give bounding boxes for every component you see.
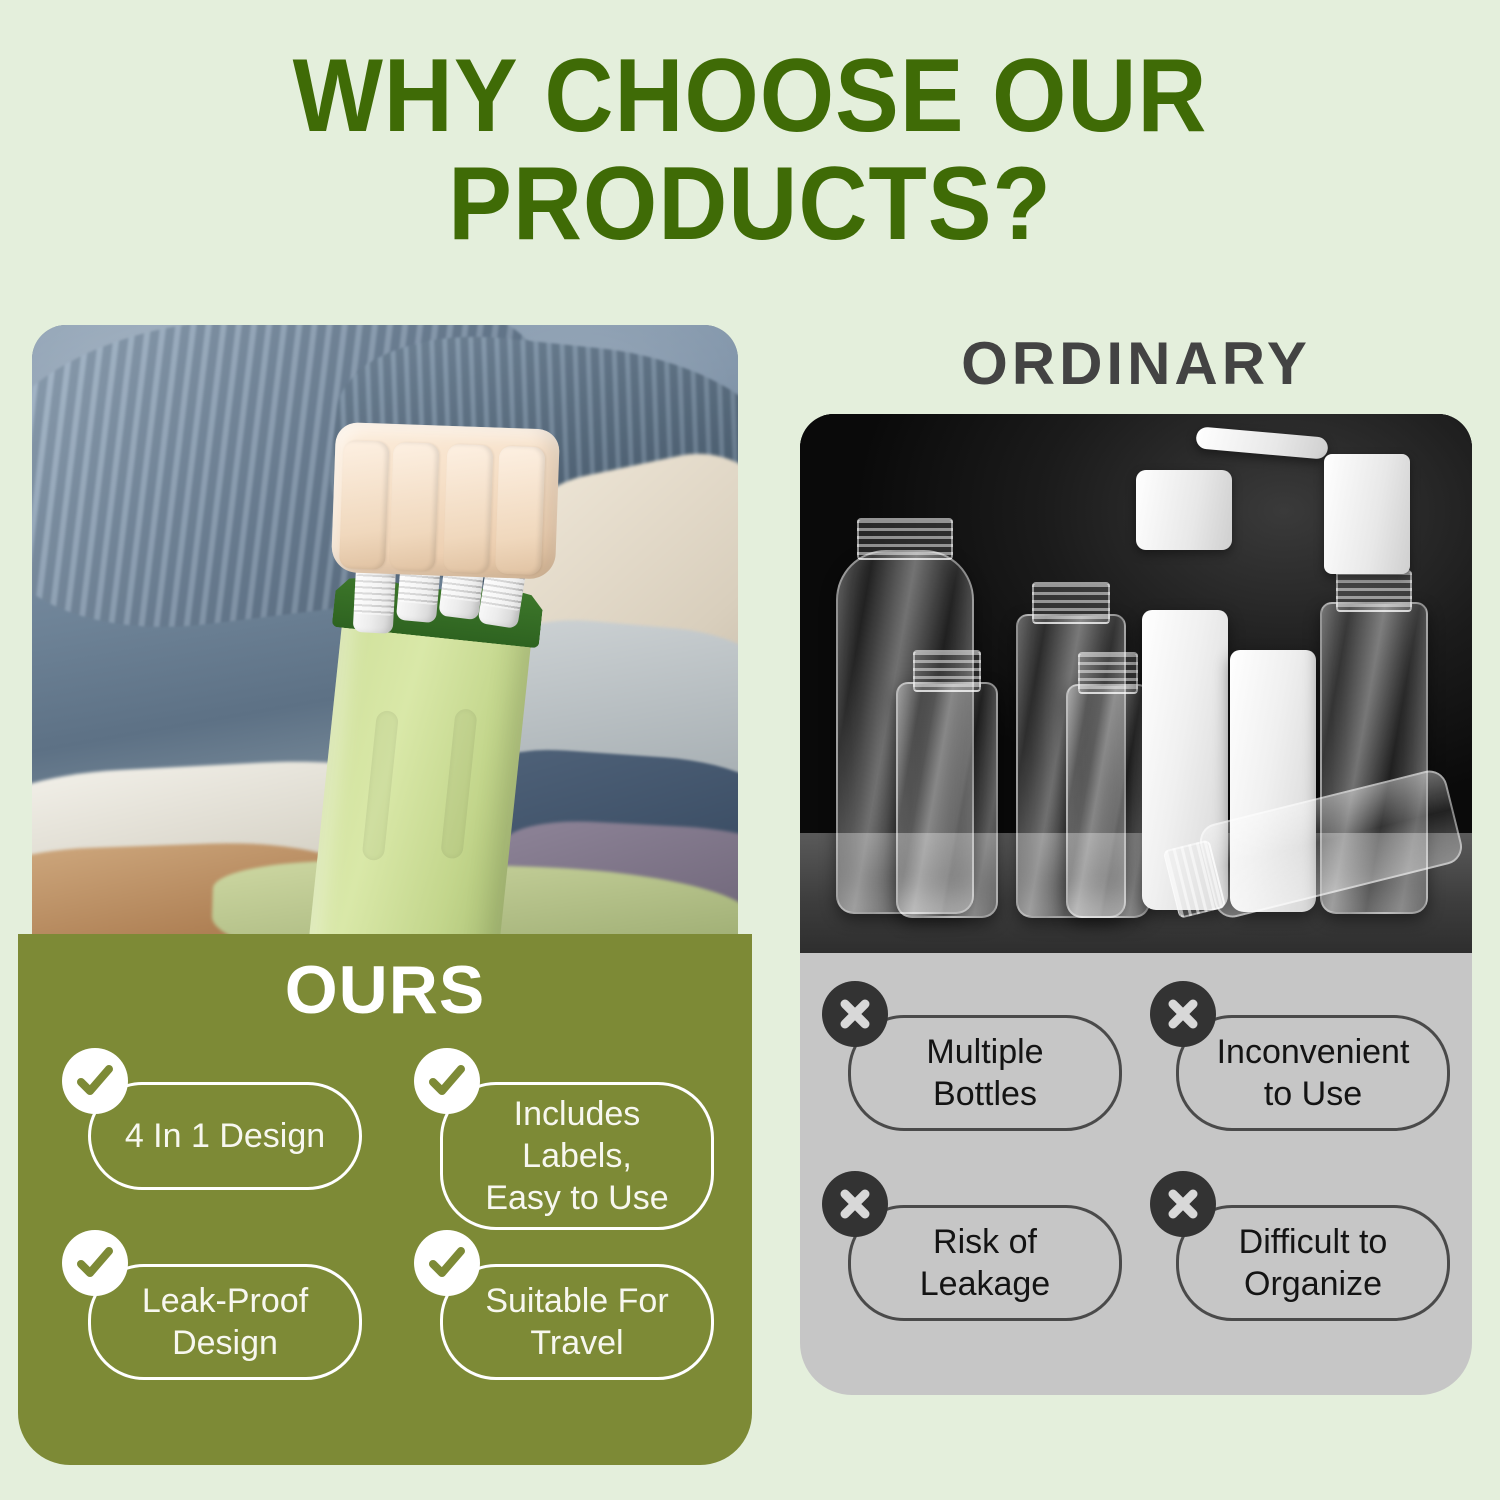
- check-icon: [62, 1230, 128, 1296]
- cap-flip-tab: [389, 442, 439, 572]
- bottle-thread: [1078, 652, 1138, 694]
- bottle-thread: [857, 518, 953, 560]
- ordinary-feature-pill: Risk of Leakage: [848, 1205, 1122, 1321]
- ordinary-product-photo: [800, 414, 1472, 953]
- dispenser-cap: [331, 422, 560, 580]
- bottle-thread: [1336, 570, 1412, 612]
- ours-feature-pill: Suitable For Travel: [440, 1264, 714, 1380]
- cross-icon: [822, 981, 888, 1047]
- ordinary-feature-pill: Multiple Bottles: [848, 1015, 1122, 1131]
- cross-icon: [1150, 1171, 1216, 1237]
- cap-flip-tab: [495, 446, 545, 576]
- ordinary-heading: ORDINARY: [800, 332, 1472, 396]
- ours-product-photo: [32, 325, 738, 937]
- ordinary-feature-pill: Inconvenient to Use: [1176, 1015, 1450, 1131]
- infographic-page: WHY CHOOSE OUR PRODUCTS? ORDINARY: [0, 0, 1500, 1500]
- dispenser-groove: [362, 710, 400, 861]
- clear-bottle-droplets: [1066, 684, 1150, 918]
- cap-flip-tab: [443, 444, 493, 574]
- ordinary-feature-pill: Difficult to Organize: [1176, 1205, 1450, 1321]
- check-icon: [62, 1048, 128, 1114]
- check-icon: [414, 1230, 480, 1296]
- cap-flip-tab: [339, 440, 389, 570]
- clear-bottle-small: [896, 682, 998, 918]
- ordinary-panel: Multiple Bottles Inconvenient to Use Ris…: [800, 953, 1472, 1395]
- bottle-thread: [913, 650, 981, 692]
- spray-nozzle-head: [1324, 454, 1410, 574]
- ours-heading: OURS: [18, 952, 752, 1028]
- dispenser-groove: [440, 708, 478, 859]
- cross-icon: [822, 1171, 888, 1237]
- ours-panel: OURS 4 In 1 Design Includes Labels, Easy…: [18, 934, 752, 1465]
- ours-feature-pill: 4 In 1 Design: [88, 1082, 362, 1190]
- pump-dispenser-head: [1136, 470, 1232, 550]
- ours-feature-pill: Leak-Proof Design: [88, 1264, 362, 1380]
- check-icon: [414, 1048, 480, 1114]
- ours-feature-pill: Includes Labels, Easy to Use: [440, 1082, 714, 1230]
- bottle-thread: [1032, 582, 1110, 624]
- cross-icon: [1150, 981, 1216, 1047]
- page-title: WHY CHOOSE OUR PRODUCTS?: [60, 42, 1440, 258]
